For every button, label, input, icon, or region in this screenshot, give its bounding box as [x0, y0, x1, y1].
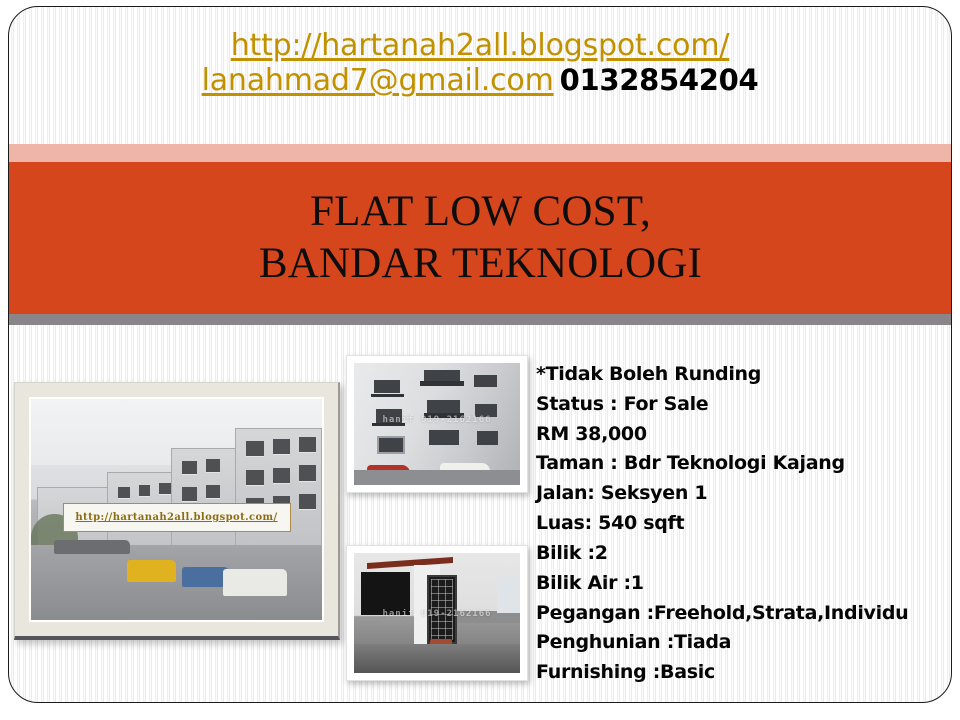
- website-link[interactable]: http://hartanah2all.blogspot.com/: [231, 28, 730, 63]
- detail-line-4: Jalan: Seksyen 1: [536, 479, 948, 509]
- detail-line-5: Luas: 540 sqft: [536, 509, 948, 539]
- detail-line-10: Furnishing :Basic: [536, 658, 948, 688]
- slide-canvas: http://hartanah2all.blogspot.com/ lanahm…: [0, 0, 960, 720]
- phone-number: 0132854204: [560, 63, 759, 97]
- room-photo-frame: hanif 019-2162166: [346, 545, 528, 681]
- room-photo-watermark: hanif 019-2162166: [354, 609, 520, 619]
- detail-line-0: *Tidak Boleh Runding: [536, 360, 948, 390]
- main-photo: http://hartanah2all.blogspot.com/: [29, 397, 324, 622]
- detail-line-7: Bilik Air :1: [536, 569, 948, 599]
- detail-line-2: RM 38,000: [536, 420, 948, 450]
- header-contact-block: http://hartanah2all.blogspot.com/ lanahm…: [0, 28, 960, 99]
- detail-line-3: Taman : Bdr Teknologi Kajang: [536, 449, 948, 479]
- header-url-line: http://hartanah2all.blogspot.com/: [0, 28, 960, 63]
- detail-line-6: Bilik :2: [536, 539, 948, 569]
- page-title: FLAT LOW COST, BANDAR TEKNOLOGI: [259, 186, 702, 291]
- detail-line-1: Status : For Sale: [536, 390, 948, 420]
- title-banner: FLAT LOW COST, BANDAR TEKNOLOGI: [9, 162, 952, 314]
- email-link[interactable]: lanahmad7@gmail.com: [202, 63, 554, 98]
- room-photo: hanif 019-2162166: [354, 553, 520, 673]
- building-photo-frame: hanif 019-2162166: [346, 355, 528, 493]
- main-photo-frame: http://hartanah2all.blogspot.com/: [14, 382, 340, 640]
- building-photo: hanif 019-2162166: [354, 363, 520, 485]
- property-details-list: *Tidak Boleh Runding Status : For Sale R…: [536, 360, 948, 688]
- main-photo-watermark-text: http://hartanah2all.blogspot.com/: [75, 512, 277, 523]
- banner-top-stripe: [9, 144, 952, 162]
- title-banner-wrapper: FLAT LOW COST, BANDAR TEKNOLOGI: [9, 144, 952, 325]
- main-photo-watermark: http://hartanah2all.blogspot.com/: [63, 503, 291, 532]
- banner-bottom-shadow: [9, 314, 952, 325]
- detail-line-9: Penghunian :Tiada: [536, 628, 948, 658]
- building-photo-watermark: hanif 019-2162166: [354, 415, 520, 425]
- header-email-phone-line: lanahmad7@gmail.com0132854204: [0, 63, 960, 98]
- detail-line-8: Pegangan :Freehold,Strata,Individu: [536, 599, 948, 629]
